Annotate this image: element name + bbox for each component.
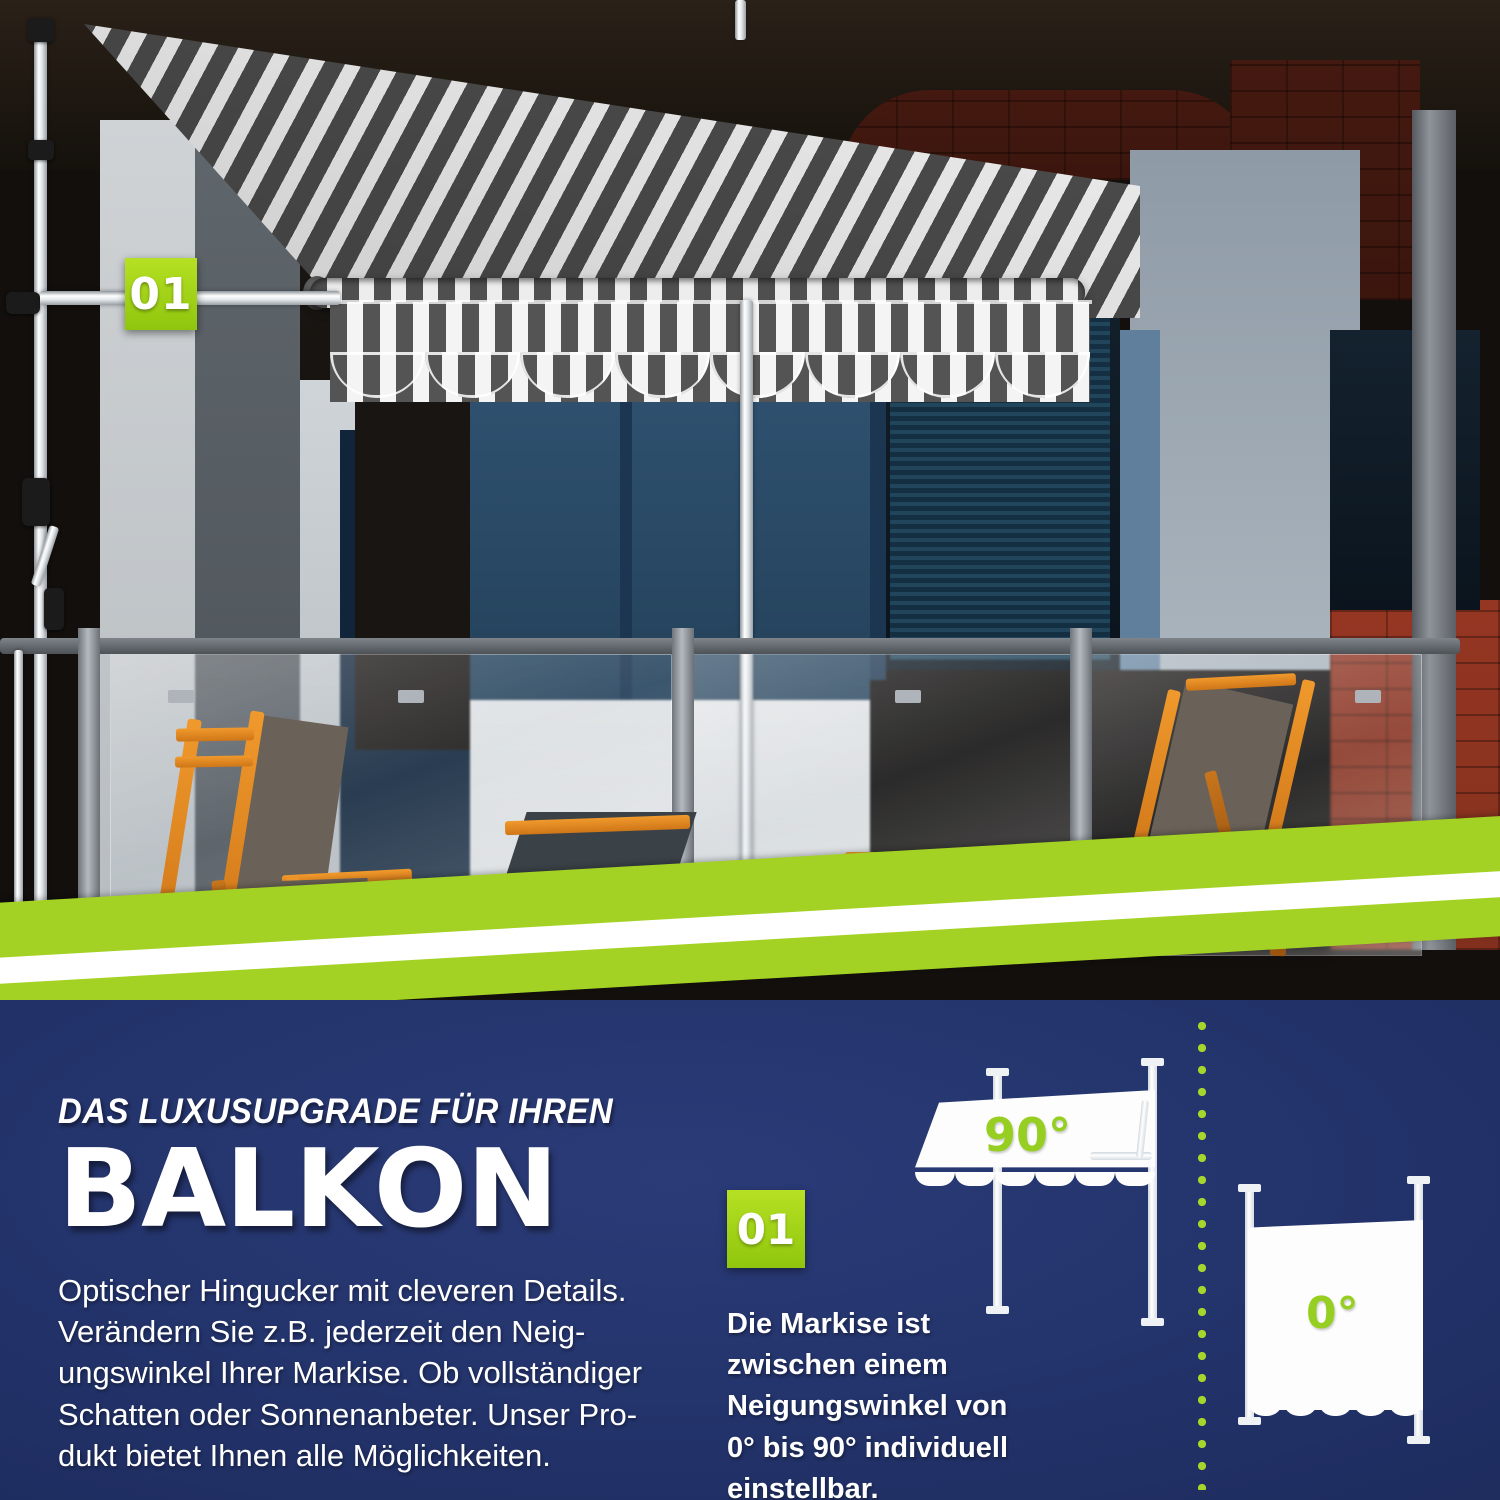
diagram0-pole-right-foot <box>1407 1436 1430 1444</box>
glass-clip-2 <box>398 690 424 703</box>
eyebrow-text: DAS LUXUSUPGRADE FÜR IHREN <box>58 1092 622 1132</box>
awning-assembly <box>0 0 1120 420</box>
callout-badge-panel-label: 01 <box>737 1205 795 1254</box>
awning-canopy-shading <box>40 18 1140 318</box>
diagram0-pole-left-foot <box>1238 1417 1261 1425</box>
glass-clip-1 <box>168 690 194 703</box>
diagram90-angle-label: 90° <box>984 1108 1071 1162</box>
support-pole-top-middle <box>735 0 746 40</box>
body-line: Schatten oder Sonnenanbeter. Unser Pro- <box>58 1394 658 1435</box>
crank-grip-left <box>44 588 64 630</box>
pole-clamp-mid-left <box>6 292 40 314</box>
dotted-divider <box>1196 1020 1208 1490</box>
window-far-right <box>1330 330 1480 610</box>
pole-clamp-upper-left <box>28 140 54 160</box>
body-line: zwischen einem <box>727 1345 1027 1386</box>
awning-valance-hem <box>328 300 1092 304</box>
callout-badge-photo[interactable]: 01 <box>125 258 197 330</box>
panel-right-column: 01 Die Markise ist zwischen einem Neigun… <box>727 1190 1027 1500</box>
diagram90-pole-right-cap <box>1141 1058 1164 1066</box>
chair-headrest <box>176 727 254 741</box>
crank-bracket-left <box>22 478 50 526</box>
callout-badge-label: 01 <box>129 269 192 320</box>
diagram90-pole-left-foot <box>986 1306 1009 1314</box>
callout-badge-panel[interactable]: 01 <box>727 1190 805 1268</box>
body-line: Die Markise ist <box>727 1304 1027 1345</box>
product-infographic: 01 DAS LUXUSUPGRADE FÜR IHREN BALKON Opt… <box>0 0 1500 1500</box>
diagram0-scalloped-edge <box>1248 1400 1423 1416</box>
facade-pillar <box>1130 150 1360 670</box>
body-line: ungswinkel Ihrer Markise. Ob vollständig… <box>58 1352 658 1393</box>
panel-left-column: DAS LUXUSUPGRADE FÜR IHREN BALKON Optisc… <box>58 1092 658 1476</box>
panel-right-body: Die Markise ist zwischen einem Neigungsw… <box>727 1304 1027 1500</box>
headline-text: BALKON <box>58 1136 670 1244</box>
diagram90-scalloped-edge <box>915 1172 1155 1186</box>
body-line: Neigungswinkel von <box>727 1386 1027 1427</box>
railing-handrail <box>0 638 1460 654</box>
body-line: Optischer Hingucker mit cleveren Details… <box>58 1270 658 1311</box>
diagram90-pole-right-foot <box>1141 1318 1164 1326</box>
body-line: Verändern Sie z.B. jederzeit den Neig- <box>58 1311 658 1352</box>
diagram0-pole-left-cap <box>1238 1184 1261 1192</box>
awning-scalloped-edge <box>330 352 1090 398</box>
body-line: dukt bietet Ihnen alle Möglichkeiten. <box>58 1435 658 1476</box>
diagram0-pole-right-cap <box>1407 1176 1430 1184</box>
body-line: 0° bis 90° individuell <box>727 1428 1027 1469</box>
glass-clip-5 <box>1355 690 1381 703</box>
glass-clip-3 <box>895 690 921 703</box>
body-line: einstellbar. <box>727 1469 1027 1500</box>
diagram90-pole-left-cap <box>986 1068 1009 1076</box>
chair-back-slat <box>175 755 253 767</box>
pole-clamp-top-left <box>28 18 54 42</box>
panel-left-body: Optischer Hingucker mit cleveren Details… <box>58 1270 658 1476</box>
diagram0-angle-label: 0° <box>1306 1288 1359 1339</box>
